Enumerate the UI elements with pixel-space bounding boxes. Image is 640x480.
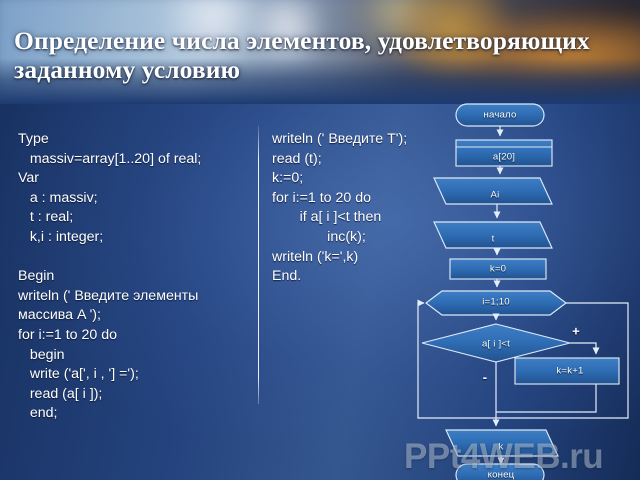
slide-canvas: Определение числа элементов, удовлетворя… [0,0,640,480]
node-input-t-label: t [492,234,495,245]
code-block-left: Type massiv=array[1..20] of real; Var a … [18,130,201,424]
node-cond-label: a[ i ]<t [482,339,510,350]
branch-false-label: - [483,370,488,385]
branch-true-label: + [572,324,580,339]
flowchart-graphics [400,96,640,480]
node-input-a-label: Ai [491,190,500,201]
node-incr-label: k=k+1 [556,366,583,377]
node-loop-label: i=1;10 [482,297,510,308]
page-title: Определение числа элементов, удовлетворя… [14,26,614,84]
node-init-k-label: k=0 [490,264,506,275]
flowchart: начало a[20] Ai t k=0 i=1;10 a[ i ]<t k=… [400,96,640,480]
watermark: PPt4WEB.ru [404,437,603,477]
code-block-right: writeln (' Введите T'); read (t); k:=0; … [272,130,407,287]
column-divider [258,126,259,404]
node-array-label: a[20] [493,152,515,163]
node-start-label: начало [484,110,517,121]
